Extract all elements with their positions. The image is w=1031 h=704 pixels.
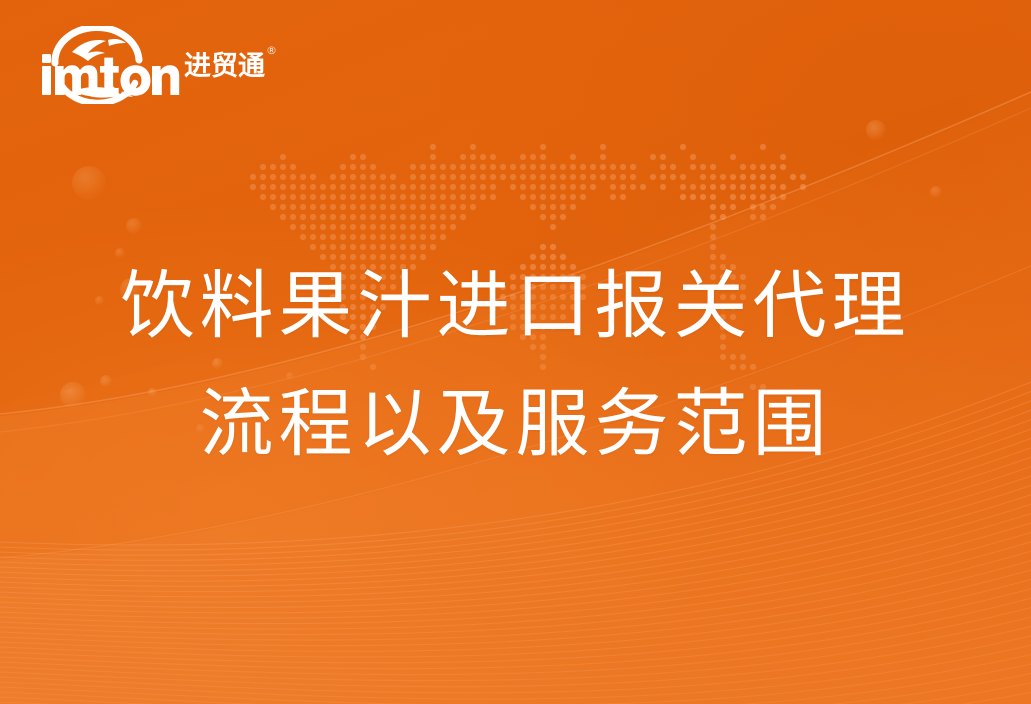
headline-line-1: 饮料果汁进口报关代理 [0,248,1031,366]
logo-trademark-symbol: ® [266,44,277,57]
headline-line-2: 流程以及服务范围 [0,366,1031,484]
logo-chinese-name: 进贸通 [184,52,265,82]
promo-banner: imton 进贸通 ® 饮料果汁进口报关代理 流程以及服务范围 [0,0,1031,704]
headline: 饮料果汁进口报关代理 流程以及服务范围 [0,248,1031,484]
brand-logo[interactable]: imton 进贸通 ® [36,26,236,104]
